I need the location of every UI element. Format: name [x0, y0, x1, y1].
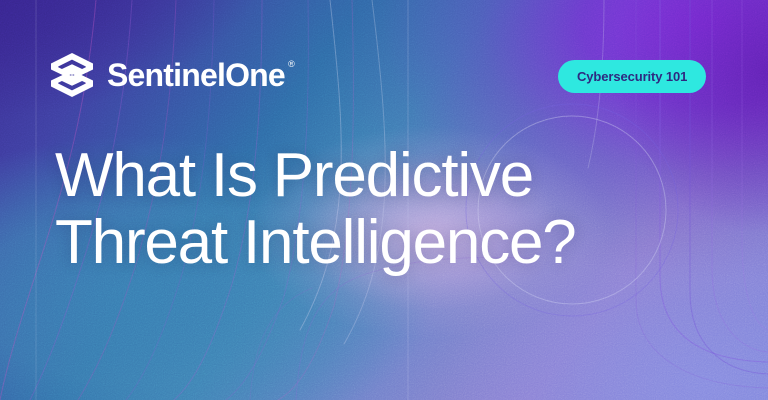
sentinelone-wordmark: SentinelOne ®	[107, 59, 285, 91]
page-title: What Is Predictive Threat Intelligence?	[55, 145, 715, 274]
banner-content: SentinelOne ® Cybersecurity 101 What Is …	[0, 0, 768, 400]
category-badge[interactable]: Cybersecurity 101	[558, 60, 706, 93]
sentinelone-logo-lockup[interactable]: SentinelOne ®	[50, 52, 285, 98]
hero-banner: SentinelOne ® Cybersecurity 101 What Is …	[0, 0, 768, 400]
registered-trademark-icon: ®	[288, 60, 294, 69]
page-title-line-1: What Is Predictive	[55, 145, 715, 207]
page-title-line-2: Threat Intelligence?	[55, 212, 715, 274]
sentinelone-wordmark-text: SentinelOne	[107, 57, 285, 93]
sentinelone-hexagon-s-logo-icon	[50, 52, 94, 98]
category-badge-label: Cybersecurity 101	[577, 69, 687, 84]
